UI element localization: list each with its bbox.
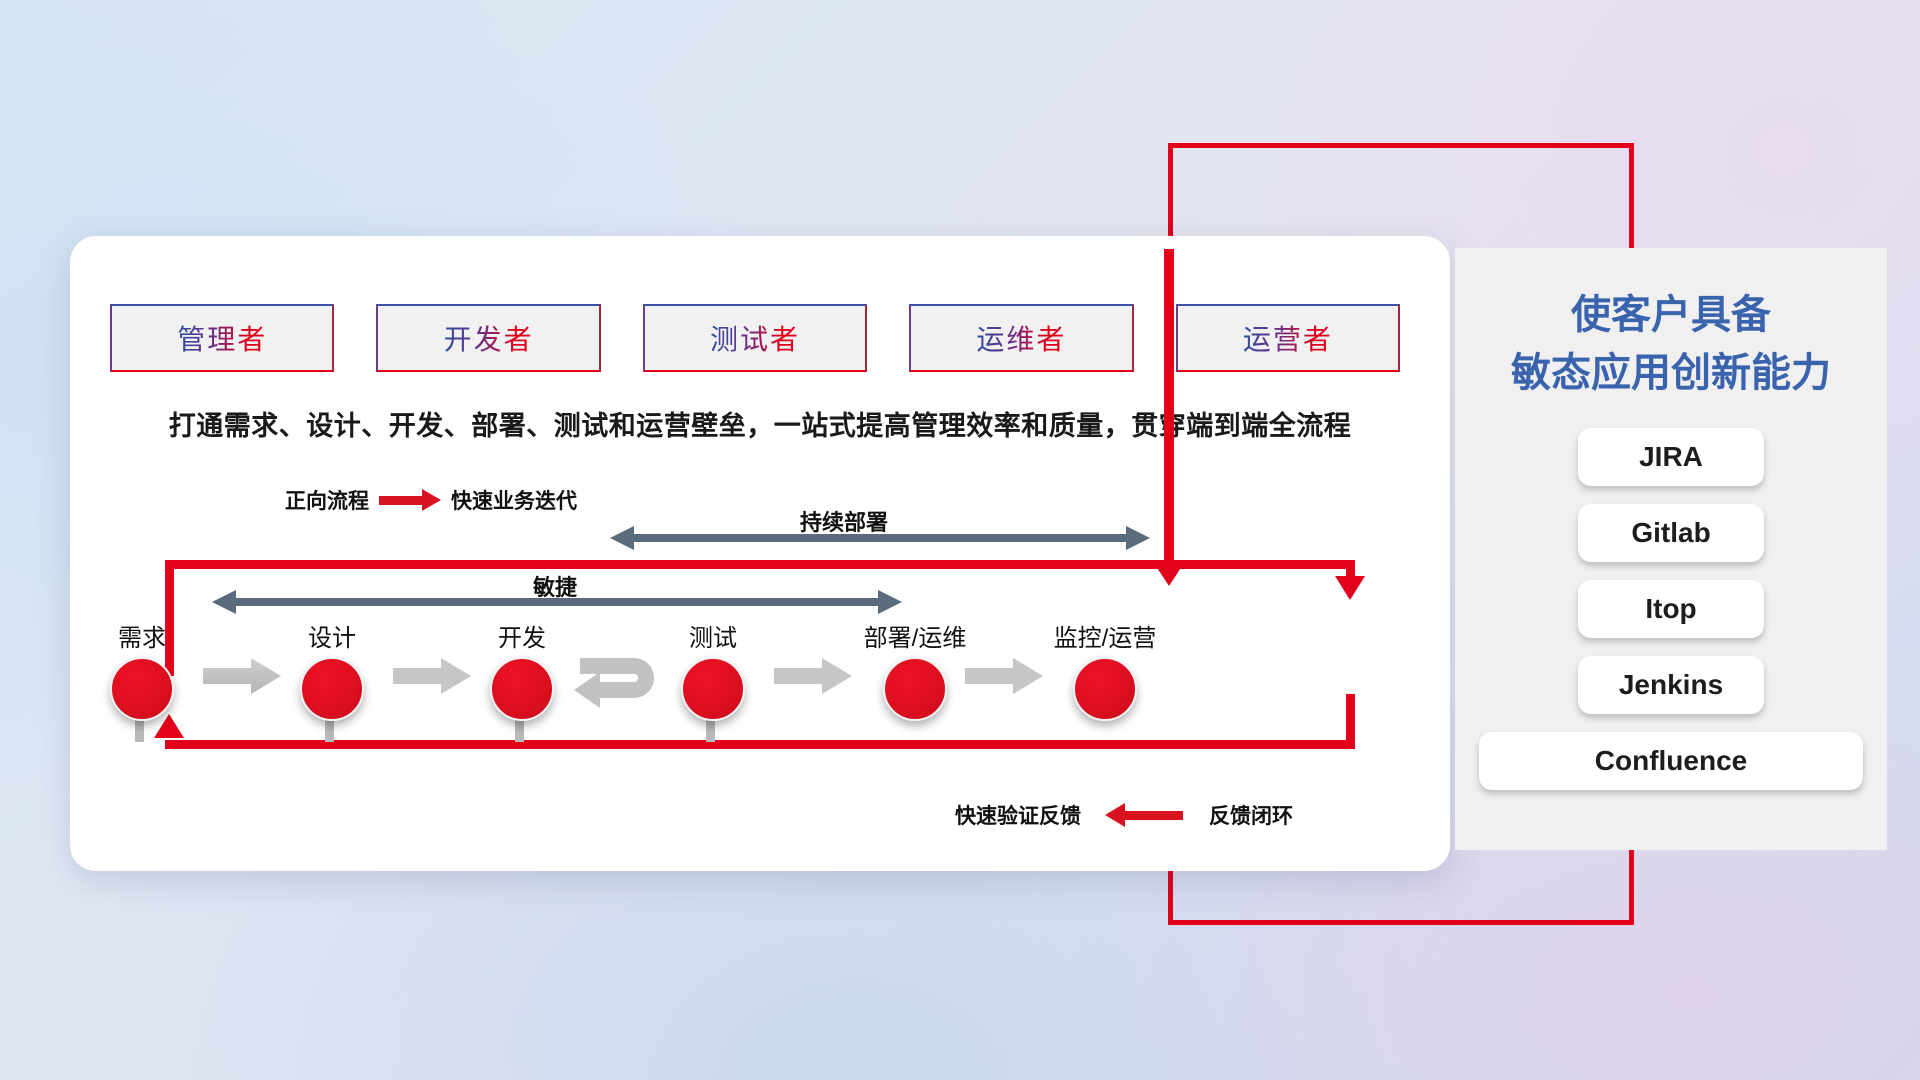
- double-arrow-agile-icon: [212, 592, 902, 612]
- tool-chip-grid: JIRA Gitlab Itop Jenkins Confluence: [1479, 428, 1863, 790]
- bracket-down-arrowhead-icon: [1152, 560, 1186, 586]
- pipeline-node-circle: [300, 657, 364, 721]
- pipeline-node-circle: [110, 657, 174, 721]
- role-box-row: 管理者 开发者 测试者 运维者 运营者: [110, 304, 1400, 372]
- role-label: 开发者: [444, 318, 534, 358]
- red-arrow-left-icon: [1105, 808, 1185, 822]
- bracket-down-arrow-stem: [1164, 249, 1174, 564]
- capability-panel-title: 使客户具备 敏态应用创新能力: [1455, 248, 1887, 402]
- role-box-manager[interactable]: 管理者: [110, 304, 334, 372]
- role-label: 运维者: [976, 318, 1066, 358]
- role-box-tester[interactable]: 测试者: [643, 304, 867, 372]
- pipeline-node-label: 需求: [110, 618, 174, 653]
- red-arrow-right-icon: [379, 493, 441, 507]
- pipeline-node-label: 测试: [681, 618, 745, 653]
- outer-bracket-bottom: [1168, 920, 1634, 925]
- red-loop-right-arrowhead-icon: [1335, 576, 1365, 600]
- pipeline-node-requirement[interactable]: 需求: [110, 618, 174, 721]
- panel-title-line-2: 敏态应用创新能力: [1475, 344, 1867, 402]
- description-text: 打通需求、设计、开发、部署、测试和运营壁垒，一站式提高管理效率和质量，贯穿端到端…: [70, 404, 1450, 443]
- slide-canvas: 管理者 开发者 测试者 运维者 运营者 打通需求、设计、开发、部署、测试和运营壁…: [0, 0, 1920, 1080]
- tool-chip-confluence[interactable]: Confluence: [1479, 732, 1863, 790]
- pipeline-node-test[interactable]: 测试: [681, 618, 745, 721]
- double-arrow-continuous-deploy-icon: [610, 528, 1150, 548]
- gray-loopback-arrow-icon: [572, 648, 682, 720]
- outer-bracket-top: [1168, 143, 1634, 148]
- gray-arrow-requirement-to-design-icon: [203, 656, 281, 696]
- tool-chip-itop[interactable]: Itop: [1578, 580, 1764, 638]
- role-box-developer[interactable]: 开发者: [376, 304, 600, 372]
- pipeline-node-design[interactable]: 设计: [300, 618, 364, 721]
- role-label: 测试者: [710, 318, 800, 358]
- legend-forward-left-label: 正向流程: [285, 485, 369, 515]
- pipeline-node-label: 部署/运维: [840, 618, 990, 653]
- pipeline-node-circle: [883, 657, 947, 721]
- pipeline-node-develop[interactable]: 开发: [490, 618, 554, 721]
- pipeline-node-circle: [681, 657, 745, 721]
- role-label: 运营者: [1243, 318, 1333, 358]
- legend-feedback-right-label: 反馈闭环: [1209, 800, 1293, 830]
- legend-forward-flow: 正向流程 快速业务迭代: [285, 485, 577, 515]
- role-box-operations[interactable]: 运营者: [1176, 304, 1400, 372]
- pipeline-node-circle: [490, 657, 554, 721]
- pipeline-row: 需求 设计 开发 测试 部署: [110, 618, 1410, 748]
- legend-feedback-left-label: 快速验证反馈: [955, 800, 1081, 830]
- tool-chip-jira[interactable]: JIRA: [1578, 428, 1764, 486]
- pipeline-node-label: 设计: [300, 618, 364, 653]
- tool-chip-jenkins[interactable]: Jenkins: [1578, 656, 1764, 714]
- pipeline-node-monitor-operations[interactable]: 监控/运营: [1030, 618, 1180, 721]
- panel-title-line-1: 使客户具备: [1475, 286, 1867, 344]
- pipeline-node-label: 开发: [490, 618, 554, 653]
- role-label: 管理者: [177, 318, 267, 358]
- legend-feedback-loop: 快速验证反馈 反馈闭环: [955, 800, 1293, 830]
- tool-chip-gitlab[interactable]: Gitlab: [1578, 504, 1764, 562]
- pipeline-node-circle: [1073, 657, 1137, 721]
- gray-arrow-design-to-develop-icon: [393, 656, 471, 696]
- pipeline-node-label: 监控/运营: [1030, 618, 1180, 653]
- legend-forward-right-label: 快速业务迭代: [451, 485, 577, 515]
- capability-panel: 使客户具备 敏态应用创新能力 JIRA Gitlab Itop Jenkins …: [1455, 248, 1887, 850]
- role-box-ops[interactable]: 运维者: [909, 304, 1133, 372]
